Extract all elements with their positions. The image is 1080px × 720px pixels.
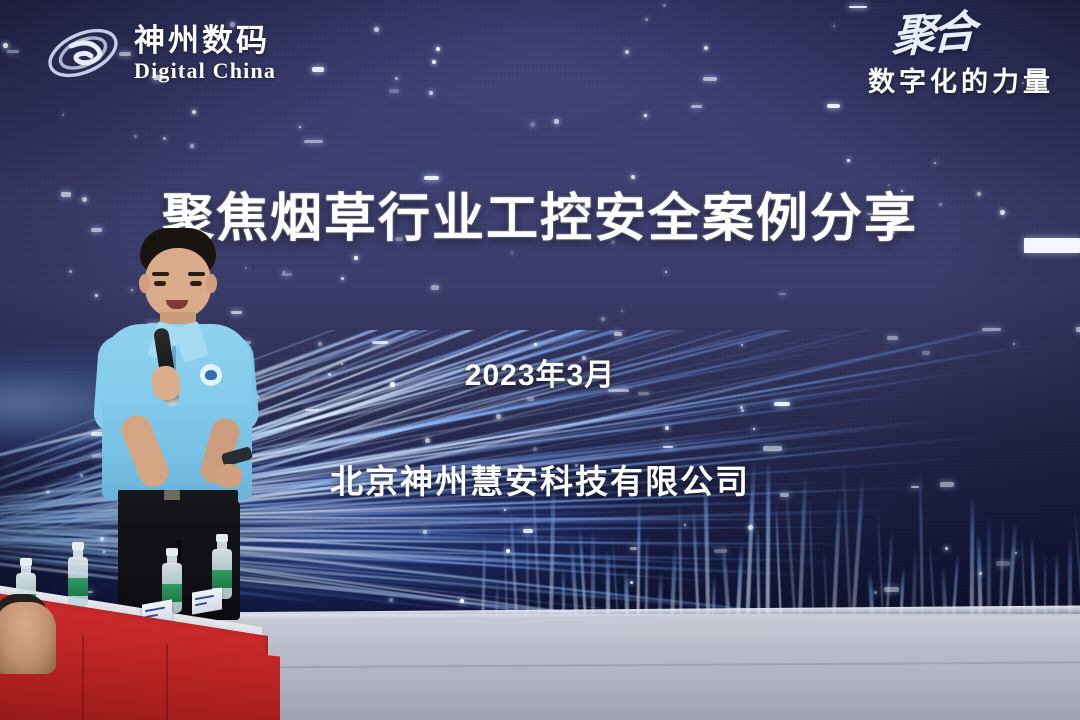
particle-dash (774, 402, 790, 406)
particle-dot (163, 137, 166, 140)
particle-dash (7, 50, 19, 53)
digital-china-wordmark: 神州数码 Digital China (134, 25, 276, 82)
particle-dot (425, 438, 430, 443)
particle-dot (530, 122, 535, 127)
table-cloth-fold (166, 644, 168, 720)
particle-dash (827, 104, 840, 108)
particle-dash (763, 446, 782, 451)
particle-dash (305, 409, 319, 411)
particle-dot (684, 524, 686, 526)
particle-dash (614, 332, 622, 336)
particle-dash (714, 549, 727, 553)
speaker-brow-right (188, 272, 205, 276)
screenshot-root: 神州数码 Digital China 聚合 数字化的力量 聚焦烟草行业工控安全案… (0, 0, 1080, 720)
brand-name-cn: 神州数码 (134, 25, 276, 56)
seated-attendee (0, 602, 56, 674)
particle-dash (389, 89, 399, 93)
particle-dot (504, 509, 506, 511)
particle-dot (374, 27, 379, 32)
particle-dot (945, 547, 948, 550)
particle-dash (630, 547, 637, 550)
name-card (192, 587, 222, 614)
particle-dot (621, 310, 623, 312)
particle-dot (496, 414, 501, 419)
particle-dot (934, 162, 936, 164)
particle-dash (703, 77, 717, 81)
particle-dot (663, 4, 666, 7)
particle-dash (884, 587, 899, 592)
particle-dot (354, 256, 358, 260)
table-cloth-fold (82, 635, 84, 720)
particle-dot (741, 344, 743, 346)
particle-dot (395, 77, 398, 80)
particle-dash (304, 140, 323, 143)
particle-dash (779, 293, 786, 295)
particle-dot (534, 343, 537, 346)
particle-dash (691, 105, 702, 108)
event-calligraphy: 聚合 (867, 12, 972, 60)
particle-dot (460, 599, 464, 603)
particle-dot (134, 135, 137, 138)
particle-dot (741, 409, 744, 412)
event-logo: 聚合 数字化的力量 (868, 16, 1054, 99)
particle-dot (511, 252, 513, 254)
speaker-brow-left (152, 272, 169, 276)
particle-dot (833, 25, 835, 27)
particle-dash (996, 561, 1010, 566)
particle-dot (192, 110, 196, 114)
particle-dot (436, 47, 440, 51)
speaker-shirt-logo (200, 364, 222, 386)
particle-dash (372, 341, 388, 344)
particle-dot (704, 46, 708, 50)
particle-dash (1076, 327, 1080, 332)
brand-name-en: Digital China (134, 60, 276, 82)
particle-dot (748, 525, 753, 530)
particle-dot (554, 119, 559, 124)
particle-dash (527, 397, 534, 401)
particle-dot (3, 43, 8, 48)
particle-dot (423, 530, 427, 534)
speaker-eye-right (190, 281, 202, 286)
particle-dot (318, 342, 322, 346)
particle-dash (282, 273, 292, 276)
speaker-ear-left (139, 274, 150, 293)
particle-dash (523, 529, 533, 533)
event-tagline: 数字化的力量 (868, 60, 1054, 99)
digital-china-logo: 神州数码 Digital China (44, 20, 276, 86)
screen-edge-highlight (1024, 238, 1080, 253)
particle-dot (341, 277, 344, 280)
speaker-hand-right (216, 464, 242, 488)
particle-dash (887, 336, 898, 340)
particle-dash (312, 67, 324, 72)
speaker-eye-left (154, 281, 166, 286)
particle-dash (849, 6, 867, 8)
particle-dash (982, 328, 1001, 331)
particle-dot (190, 144, 194, 148)
particle-dash (663, 446, 673, 448)
digital-china-swirl-icon (44, 20, 122, 86)
speaker-ear-right (206, 274, 217, 293)
particle-dot (644, 114, 647, 117)
particle-dash (431, 285, 439, 290)
particle-dot (665, 426, 669, 430)
